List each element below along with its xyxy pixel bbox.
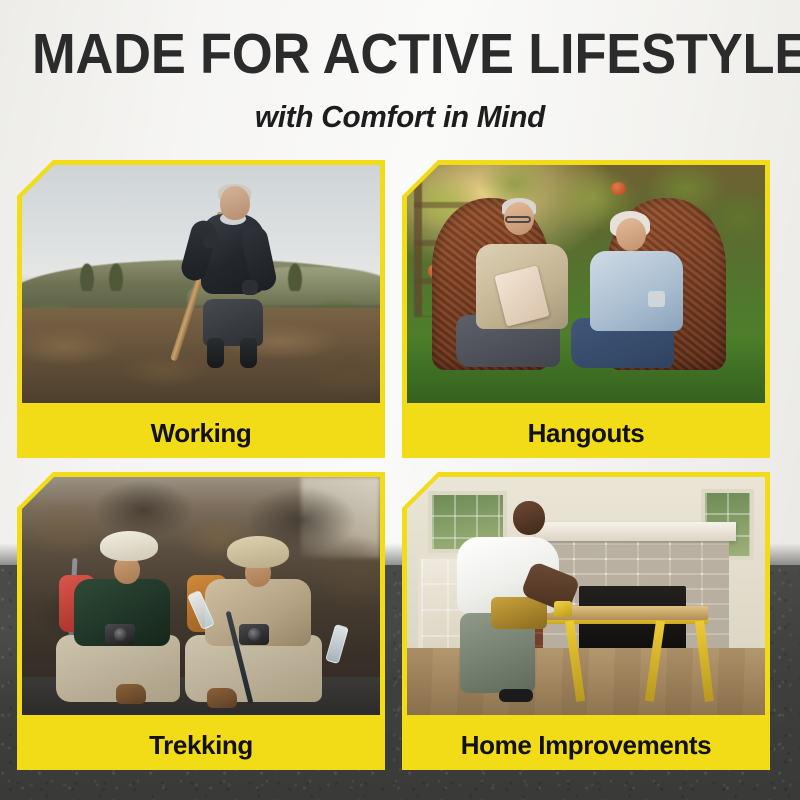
photo-hangouts: [407, 165, 765, 403]
card-label-hangouts: Hangouts: [402, 408, 770, 458]
glove-icon: [203, 233, 219, 248]
photo-home-improvements: [407, 477, 765, 715]
feature-card-working[interactable]: Working: [17, 160, 385, 460]
scene-two-hikers-rocky-slope: [22, 477, 380, 715]
glove-icon: [242, 280, 258, 295]
tree-icon: [287, 261, 303, 291]
camera-icon: [105, 624, 135, 645]
shoe-icon: [499, 689, 533, 702]
card-label-home-improvements: Home Improvements: [402, 720, 770, 770]
page-title: MADE FOR ACTIVE LIFESTYLE: [32, 26, 768, 83]
photo-trekking: [22, 477, 380, 715]
scene-senior-man-digging-field: [22, 165, 380, 403]
binoculars-icon: [239, 624, 269, 645]
card-label-working: Working: [17, 408, 385, 458]
tree-icon: [79, 261, 95, 291]
head: [220, 186, 250, 220]
tape-measure-icon: [554, 601, 572, 617]
head: [513, 501, 545, 535]
torso: [590, 251, 682, 331]
photo-frame: [402, 472, 770, 720]
scene-senior-couple-garden-chairs: [407, 165, 765, 403]
feature-card-hangouts[interactable]: Hangouts: [402, 160, 770, 460]
bucket-hat-icon: [100, 531, 158, 561]
boot-icon: [207, 338, 224, 368]
mug-icon: [648, 291, 665, 307]
tree-icon: [108, 261, 124, 291]
feature-card-home-improvements[interactable]: Home Improvements: [402, 472, 770, 772]
boot-icon: [240, 338, 257, 368]
feature-card-trekking[interactable]: Trekking: [17, 472, 385, 772]
page-subtitle: with Comfort in Mind: [16, 101, 784, 132]
scene-man-sawhorse-fireplace: [407, 477, 765, 715]
figure-woman-seated: [586, 208, 693, 375]
sawhorse-leg: [645, 620, 665, 701]
photo-frame: [402, 160, 770, 408]
promo-poster: MADE FOR ACTIVE LIFESTYLE with Comfort i…: [0, 0, 800, 800]
boot-icon: [116, 684, 146, 704]
figure-man-working: [450, 501, 572, 701]
photo-frame: [17, 472, 385, 720]
figure-hiker-left: [61, 529, 190, 705]
pumpkin-icon: [611, 182, 626, 195]
head: [616, 218, 646, 251]
glasses-icon: [505, 216, 531, 223]
card-label-trekking: Trekking: [17, 720, 385, 770]
photo-working: [22, 165, 380, 403]
figure-man-digging: [180, 186, 287, 367]
photo-frame: [17, 160, 385, 408]
bucket-hat-icon: [227, 536, 289, 568]
boot-icon: [207, 688, 237, 708]
